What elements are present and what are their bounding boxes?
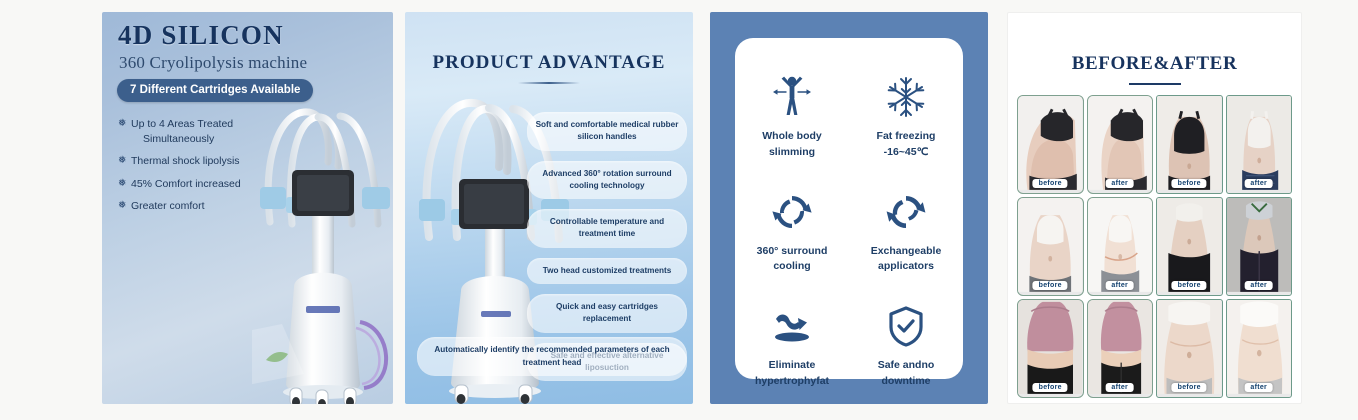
before-after-image: after [1226, 197, 1293, 296]
label-after: after [1105, 383, 1134, 392]
snowflake-icon: ❅ [118, 154, 131, 169]
before-after-image: after [1087, 197, 1154, 296]
label-before: before [1033, 281, 1068, 290]
feature-bullet-list: ❅ Up to 4 Areas Treated Simultaneously ❅… [118, 117, 308, 221]
list-item: Controllable temperature and treatment t… [527, 209, 687, 248]
feature-safe-no-downtime: Safe andnodowntime [849, 301, 963, 390]
before-after-image: before [1156, 95, 1223, 194]
list-item: Automatically identify the recommended p… [417, 337, 687, 376]
list-item: Two head customized treatments [527, 258, 687, 284]
shield-check-icon [853, 301, 959, 351]
label-after: after [1244, 383, 1273, 392]
feature-label: Exchangeableapplicators [853, 244, 959, 276]
list-item: ❅ Up to 4 Areas Treated Simultaneously [118, 117, 308, 147]
feature-label: Eliminatehypertrophyfat [739, 358, 845, 390]
list-item-label: Thermal shock lipolysis [131, 154, 308, 169]
label-before: before [1172, 383, 1207, 392]
label-before: before [1033, 179, 1068, 188]
feature-360-cooling: 360° 360° surroundcooling [735, 187, 849, 276]
feature-label: 360° surroundcooling [739, 244, 845, 276]
product-advantage-panel: PRODUCT ADVANTAGE Soft and comfortable m… [405, 12, 693, 404]
before-after-image: before [1156, 197, 1223, 296]
snowflake-icon: ❅ [118, 117, 131, 132]
features-panel: Whole bodyslimming [710, 12, 988, 404]
list-item-label: Greater comfort [131, 199, 308, 214]
before-after-image: before [1017, 299, 1084, 398]
feature-fat-freezing: Fat freezing-16~45℃ [849, 72, 963, 161]
page-title: PRODUCT ADVANTAGE [405, 52, 693, 74]
feature-whole-body-slimming: Whole bodyslimming [735, 72, 849, 161]
label-after: after [1105, 179, 1134, 188]
snowflake-icon [853, 72, 959, 122]
page-title: BEFORE&AFTER [1008, 53, 1301, 75]
feature-label: Whole bodyslimming [739, 129, 845, 161]
list-item-label: 45% Comfort increased [131, 177, 308, 192]
page-subtitle: 360 Cryolipolysis machine [119, 53, 307, 73]
before-after-image: before [1156, 299, 1223, 398]
features-card: Whole bodyslimming [735, 38, 963, 379]
list-item: Quick and easy cartridges replacement [527, 294, 687, 333]
label-before: before [1172, 281, 1207, 290]
fat-reduction-icon [739, 301, 845, 351]
before-after-image: after [1226, 95, 1293, 194]
svg-text:360°: 360° [783, 208, 801, 218]
before-after-grid: before after [1017, 95, 1292, 398]
list-item: Soft and comfortable medical rubber sili… [527, 112, 687, 151]
label-after: after [1244, 281, 1273, 290]
snowflake-icon: ❅ [118, 177, 131, 192]
list-item: ❅ Greater comfort [118, 199, 308, 214]
product-hero-panel: 4D SILICON 360 Cryolipolysis machine 7 D… [102, 12, 393, 404]
before-after-image: after [1087, 299, 1154, 398]
whole-body-slimming-icon [739, 72, 845, 122]
label-after: after [1105, 281, 1134, 290]
status-badge: 7 Different Cartridges Available [117, 79, 313, 102]
poster-board: 4D SILICON 360 Cryolipolysis machine 7 D… [0, 0, 1358, 420]
before-after-image: before [1017, 197, 1084, 296]
before-after-image: before [1017, 95, 1084, 194]
list-item-label-2: Simultaneously [131, 132, 308, 147]
list-item: ❅ Thermal shock lipolysis [118, 154, 308, 169]
list-item-label: Up to 4 Areas Treated [131, 118, 233, 130]
exchange-arrows-icon [853, 187, 959, 237]
rotation-360-icon: 360° [739, 187, 845, 237]
feature-label: Fat freezing-16~45℃ [853, 129, 959, 161]
feature-eliminate-fat: Eliminatehypertrophyfat [735, 301, 849, 390]
before-after-panel: BEFORE&AFTER before [1007, 12, 1302, 404]
list-item: Advanced 360° rotation surround cooling … [527, 161, 687, 200]
title-divider [518, 82, 580, 84]
before-after-image: after [1226, 299, 1293, 398]
list-item: ❅ 45% Comfort increased [118, 177, 308, 192]
label-after: after [1244, 179, 1273, 188]
title-divider [1129, 83, 1181, 85]
before-after-image: after [1087, 95, 1154, 194]
page-title: 4D SILICON [118, 20, 284, 51]
features-grid: Whole bodyslimming [735, 72, 963, 390]
feature-label: Safe andnodowntime [853, 358, 959, 390]
snowflake-icon: ❅ [118, 199, 131, 214]
label-before: before [1033, 383, 1068, 392]
label-before: before [1172, 179, 1207, 188]
feature-exchangeable-applicators: Exchangeableapplicators [849, 187, 963, 276]
